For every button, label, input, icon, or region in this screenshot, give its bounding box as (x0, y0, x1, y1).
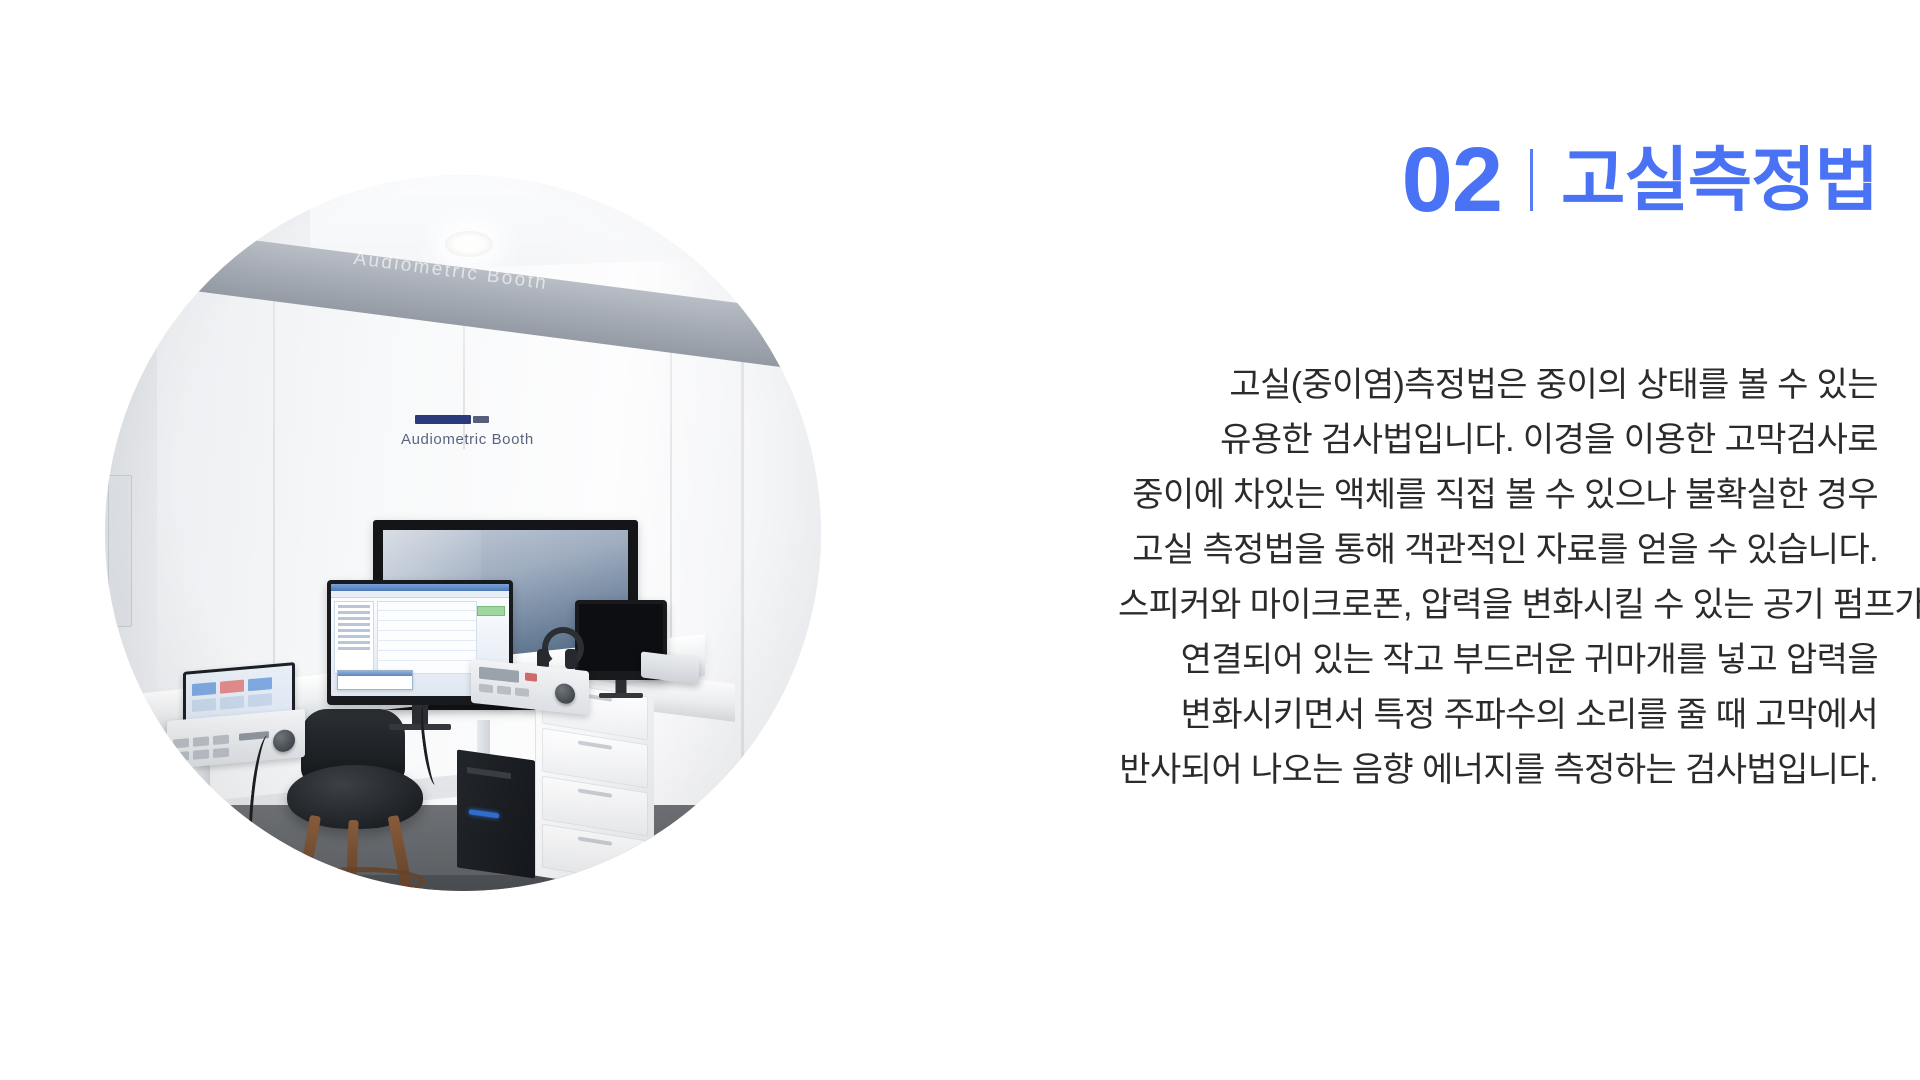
body-paragraph: 고실(중이염)측정법은 중이의 상태를 볼 수 있는 유용한 검사법입니다. 이… (1118, 358, 1878, 798)
software-menubar (331, 591, 509, 598)
booth-label: Audiometric Booth (401, 431, 534, 448)
monitor-stand (616, 680, 627, 694)
door-trim (108, 475, 132, 627)
slide-page: Audiometric Booth Audiometric Booth (0, 0, 1920, 1080)
software-status-indicator (477, 606, 505, 616)
monitor-base (599, 693, 643, 698)
booth-brand-logo-icon (415, 415, 471, 424)
pc-tower (457, 750, 535, 879)
body-line: 변화시키면서 특정 주파수의 소리를 줄 때 고막에서 (1118, 688, 1878, 743)
body-line: 중이에 차있는 액체를 직접 볼 수 있으나 불확실한 경우 (1118, 468, 1878, 523)
section-heading: 02 고실측정법 (1402, 134, 1878, 226)
software-titlebar (331, 584, 509, 591)
ceiling-downlight-icon (445, 231, 493, 257)
body-line: 고실 측정법을 통해 객관적인 자료를 얻을 수 있습니다. (1118, 523, 1878, 578)
headphone-earcup (565, 649, 577, 669)
wall-corner-edge (741, 295, 744, 765)
photo-scene: Audiometric Booth Audiometric Booth (105, 175, 821, 891)
body-line: 연결되어 있는 작고 부드러운 귀마개를 넣고 압력을 (1118, 633, 1878, 688)
body-line: 반사되어 나오는 음향 에너지를 측정하는 검사법입니다. (1118, 743, 1878, 798)
software-data-grid (377, 601, 477, 674)
section-number: 02 (1402, 134, 1502, 226)
panel-seam (273, 283, 275, 713)
body-line: 스피커와 마이크로폰, 압력을 변화시킬 수 있는 공기 펌프가 (1118, 578, 1878, 633)
body-line: 유용한 검사법입니다. 이경을 이용한 고막검사로 (1118, 413, 1878, 468)
page-title: 고실측정법 (1561, 145, 1878, 215)
audiometer-keys (477, 664, 583, 709)
software-dialog (337, 670, 413, 690)
floor-front (105, 875, 821, 891)
text-column: 02 고실측정법 고실(중이염)측정법은 중이의 상태를 볼 수 있는 유용한 … (900, 0, 1920, 1080)
heading-divider-icon (1530, 149, 1533, 211)
body-line: 고실(중이염)측정법은 중이의 상태를 볼 수 있는 (1118, 358, 1878, 413)
clinic-photo: Audiometric Booth Audiometric Booth (105, 175, 821, 891)
pc-drive-slot (467, 767, 511, 779)
audiometer-keys (173, 714, 299, 763)
chair-footring (297, 867, 425, 891)
pc-power-led-icon (469, 809, 499, 818)
software-sidebar (334, 601, 374, 674)
